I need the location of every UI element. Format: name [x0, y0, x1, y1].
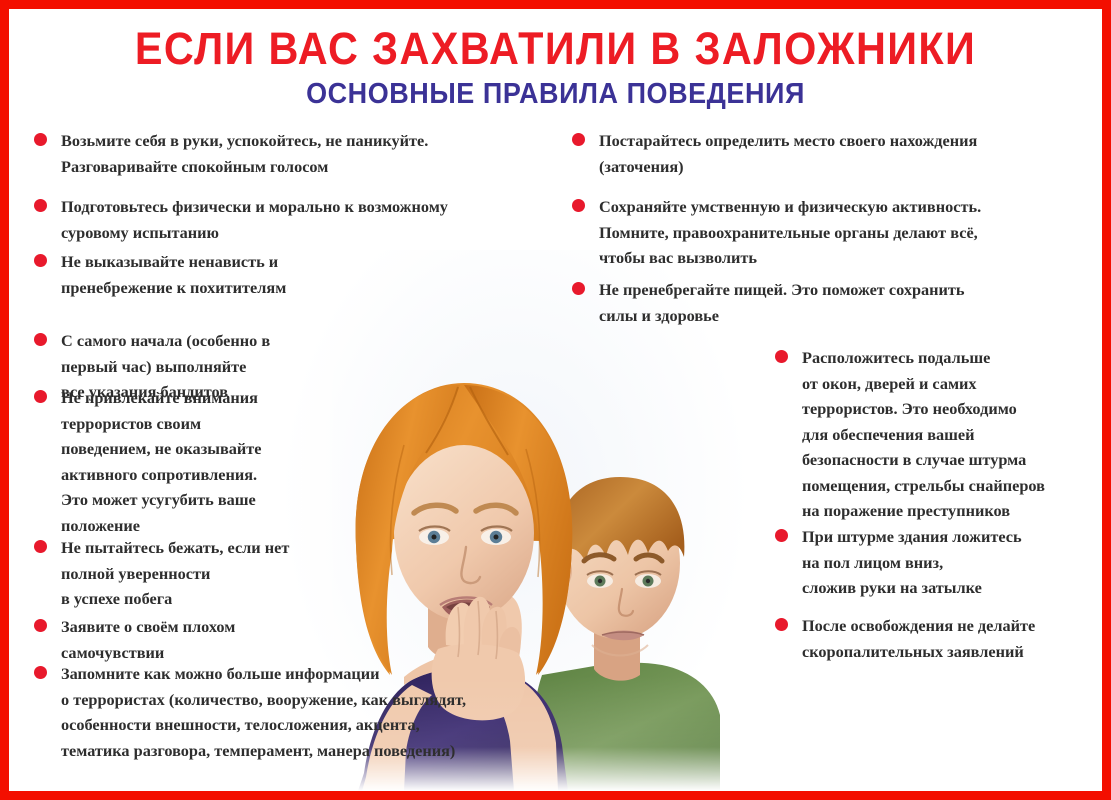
list-item: Постарайтесь определить место своего нах… — [572, 128, 1072, 179]
list-item: Сохраняйте умственную и физическую актив… — [572, 194, 1072, 271]
rule-text: После освобождения не делайте скоропалит… — [802, 613, 1095, 664]
frame-border-bottom — [0, 791, 1111, 800]
rule-text: Не пренебрегайте пищей. Это поможет сохр… — [599, 277, 1072, 328]
list-item: Не пренебрегайте пищей. Это поможет сохр… — [572, 277, 1072, 328]
bullet-icon — [34, 254, 47, 267]
bullet-icon — [572, 133, 585, 146]
bullet-icon — [572, 199, 585, 212]
poster-root: ЕСЛИ ВАС ЗАХВАТИЛИ В ЗАЛОЖНИКИ ОСНОВНЫЕ … — [0, 0, 1111, 800]
rule-text: Возьмите себя в руки, успокойтесь, не па… — [61, 128, 529, 179]
list-item: Заявите о своём плохом самочувствии — [34, 614, 334, 665]
list-item: Расположитесь подальше от окон, дверей и… — [775, 345, 1095, 524]
list-item: Запомните как можно больше информации о … — [34, 661, 554, 763]
frame-border-right — [1102, 0, 1111, 800]
rule-text: Расположитесь подальше от окон, дверей и… — [802, 345, 1095, 524]
bullet-icon — [34, 333, 47, 346]
frame-border-left — [0, 0, 9, 800]
poster-title: ЕСЛИ ВАС ЗАХВАТИЛИ В ЗАЛОЖНИКИ — [44, 26, 1066, 71]
bullet-icon — [34, 619, 47, 632]
poster-subtitle: ОСНОВНЫЕ ПРАВИЛА ПОВЕДЕНИЯ — [39, 80, 1072, 109]
bullet-icon — [34, 666, 47, 679]
bullet-icon — [34, 390, 47, 403]
rule-text: Постарайтесь определить место своего нах… — [599, 128, 1072, 179]
rule-text: При штурме здания ложитесь на пол лицом … — [802, 524, 1095, 601]
bullet-icon — [34, 133, 47, 146]
list-item: Не пытайтесь бежать, если нет полной уве… — [34, 535, 334, 612]
rule-text: Не выказывайте ненависть и пренебрежение… — [61, 249, 364, 300]
bullet-icon — [572, 282, 585, 295]
bullet-icon — [775, 350, 788, 363]
list-item: Не привлекайте внимания террористов свои… — [34, 385, 334, 538]
list-item: После освобождения не делайте скоропалит… — [775, 613, 1095, 664]
rule-text: Не пытайтесь бежать, если нет полной уве… — [61, 535, 334, 612]
rule-text: Запомните как можно больше информации о … — [61, 661, 554, 763]
list-item: Подготовьтесь физически и морально к воз… — [34, 194, 529, 245]
list-item: Возьмите себя в руки, успокойтесь, не па… — [34, 128, 529, 179]
rule-text: Сохраняйте умственную и физическую актив… — [599, 194, 1072, 271]
rule-text: Не привлекайте внимания террористов свои… — [61, 385, 334, 538]
list-item: При штурме здания ложитесь на пол лицом … — [775, 524, 1095, 601]
bullet-icon — [775, 618, 788, 631]
boy-figure — [530, 477, 720, 791]
bullet-icon — [34, 199, 47, 212]
frame-border-top — [0, 0, 1111, 9]
bullet-icon — [34, 540, 47, 553]
list-item: Не выказывайте ненависть и пренебрежение… — [34, 249, 364, 300]
rule-text: Подготовьтесь физически и морально к воз… — [61, 194, 529, 245]
bullet-icon — [775, 529, 788, 542]
rule-text: Заявите о своём плохом самочувствии — [61, 614, 334, 665]
